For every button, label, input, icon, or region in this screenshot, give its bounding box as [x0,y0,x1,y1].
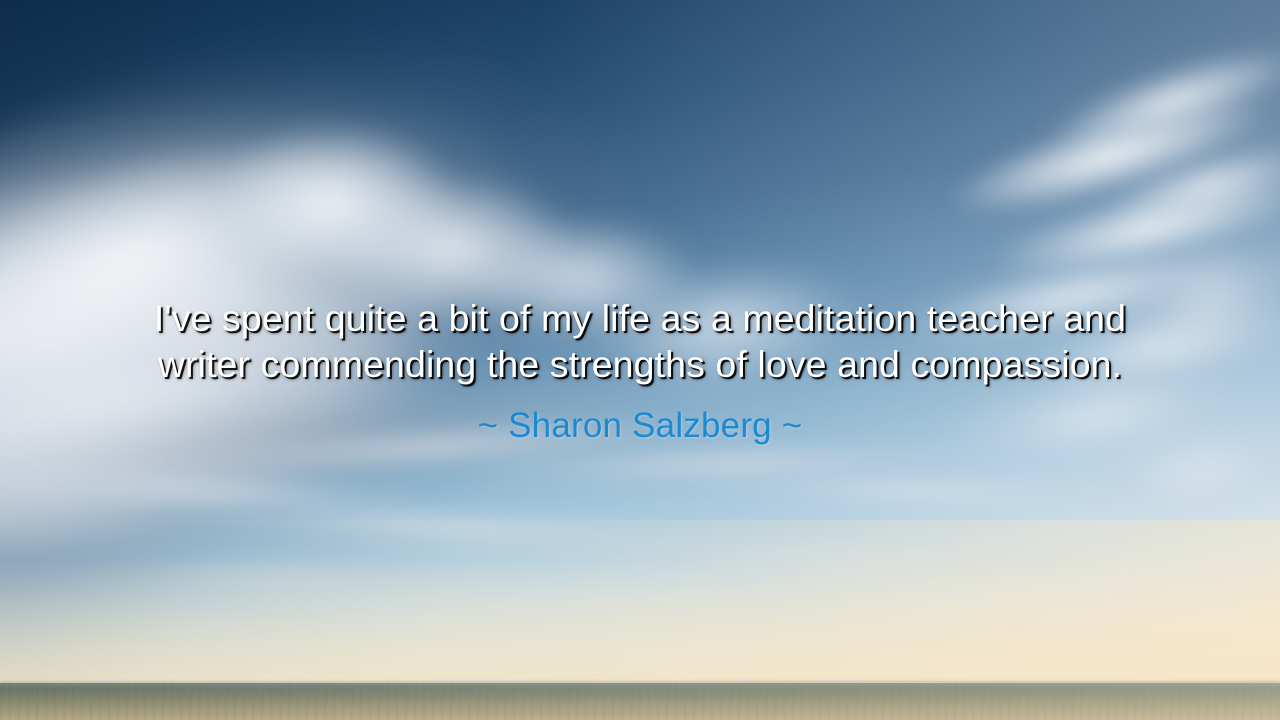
quote-line-1: I've spent quite a bit of my life as a m… [100,296,1180,342]
quote-block: I've spent quite a bit of my life as a m… [100,296,1180,388]
quote-attribution: ~ Sharon Salzberg ~ [190,406,1090,446]
text-overlay: I've spent quite a bit of my life as a m… [0,0,1280,720]
quote-image-canvas: I've spent quite a bit of my life as a m… [0,0,1280,720]
quote-line-2: writer commending the strengths of love … [100,342,1180,388]
